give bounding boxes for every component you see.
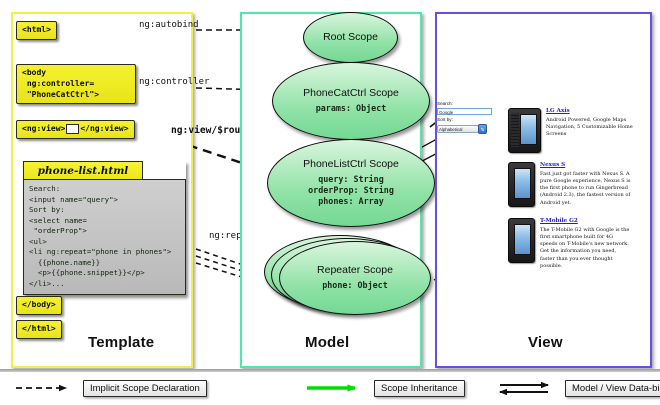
scope-phonecatctrl-props: params: Object — [316, 103, 387, 114]
legend-item-data-binding: Model / View Data-binding — [496, 378, 660, 398]
panel-label-template: Template — [88, 334, 154, 351]
green-arrow-icon — [305, 378, 367, 398]
tag-ngview: <ng:view> </ng:view> — [16, 120, 135, 139]
panel-label-model: Model — [305, 334, 349, 351]
phone-thumbnail-icon — [508, 218, 535, 263]
tag-html-open: <html> — [16, 21, 57, 40]
search-label: Search: — [437, 101, 499, 107]
phone-snippet: Fast just got faster with Nexus S. A pur… — [540, 171, 632, 207]
phone-thumbnail-icon — [508, 162, 535, 207]
legend: Implicit Scope Declaration Scope Inherit… — [0, 372, 660, 405]
scope-phonelistctrl: PhoneListCtrl Scope query: String orderP… — [267, 139, 435, 227]
scope-root-name: Root Scope — [323, 32, 378, 44]
phone-snippet: The T-Mobile G2 with Google is the first… — [540, 227, 632, 271]
tag-body-close: </body> — [16, 296, 62, 315]
legend-label: Model / View Data-binding — [565, 380, 660, 397]
edge-label-ng-controller: ng:controller — [139, 77, 209, 87]
sort-select-wrapper[interactable]: Alphabetical ⇅ — [437, 124, 499, 134]
legend-label: Scope Inheritance — [374, 380, 465, 397]
tag-ngview-close: </ng:view> — [80, 124, 128, 135]
scope-phonelistctrl-props: query: String orderProp: String phones: … — [308, 174, 394, 207]
scope-phonecatctrl-name: PhoneCatCtrl Scope — [303, 88, 399, 100]
ngview-slot-placeholder — [66, 124, 79, 134]
edge-label-ng-autobind: ng:autobind — [139, 20, 199, 30]
phone-name-link[interactable]: LG Axis — [546, 108, 638, 115]
view-search-form: Search: Google Sort by: Alphabetical ⇅ — [437, 101, 499, 134]
phone-name-link[interactable]: Nexus S — [540, 162, 632, 169]
tag-ngview-open: <ng:view> — [22, 124, 65, 135]
phone-list-item[interactable]: LG Axis Android Powered, Google Maps Nav… — [508, 108, 638, 153]
phone-list-item[interactable]: T-Mobile G2 The T-Mobile G2 with Google … — [508, 218, 632, 270]
code-note-phone-list: phone-list.html Search: <input name="que… — [23, 161, 186, 295]
chevron-updown-icon[interactable]: ⇅ — [478, 124, 487, 134]
panel-label-view: View — [528, 334, 563, 351]
legend-item-scope-inheritance: Scope Inheritance — [305, 378, 465, 398]
tag-body-open: <body ng:controller= "PhoneCatCtrl"> — [16, 64, 136, 104]
sort-label: Sort by: — [437, 117, 499, 123]
tag-html-close: </html> — [16, 320, 62, 339]
dashed-arrow-icon — [14, 378, 76, 398]
scope-repeater-props: phone: Object — [322, 280, 388, 291]
phone-name-link[interactable]: T-Mobile G2 — [540, 218, 632, 225]
double-arrow-icon — [496, 378, 558, 398]
scope-repeater: Repeater Scope phone: Object — [279, 241, 431, 315]
phone-thumbnail-icon — [508, 108, 541, 153]
phone-snippet: Android Powered, Google Maps Navigation,… — [546, 117, 638, 139]
code-note-title: phone-list.html — [23, 161, 143, 179]
legend-label: Implicit Scope Declaration — [83, 380, 207, 397]
search-input[interactable]: Google — [437, 108, 492, 115]
phone-list-item[interactable]: Nexus S Fast just got faster with Nexus … — [508, 162, 632, 207]
code-note-body: Search: <input name="query"> Sort by: <s… — [23, 179, 186, 295]
scope-repeater-name: Repeater Scope — [317, 265, 393, 277]
scope-root: Root Scope — [303, 12, 398, 63]
scope-phonecatctrl: PhoneCatCtrl Scope params: Object — [272, 62, 430, 140]
scope-phonelistctrl-name: PhoneListCtrl Scope — [303, 159, 399, 171]
legend-item-implicit-scope-declaration: Implicit Scope Declaration — [14, 378, 207, 398]
sort-select[interactable]: Alphabetical — [437, 125, 479, 133]
